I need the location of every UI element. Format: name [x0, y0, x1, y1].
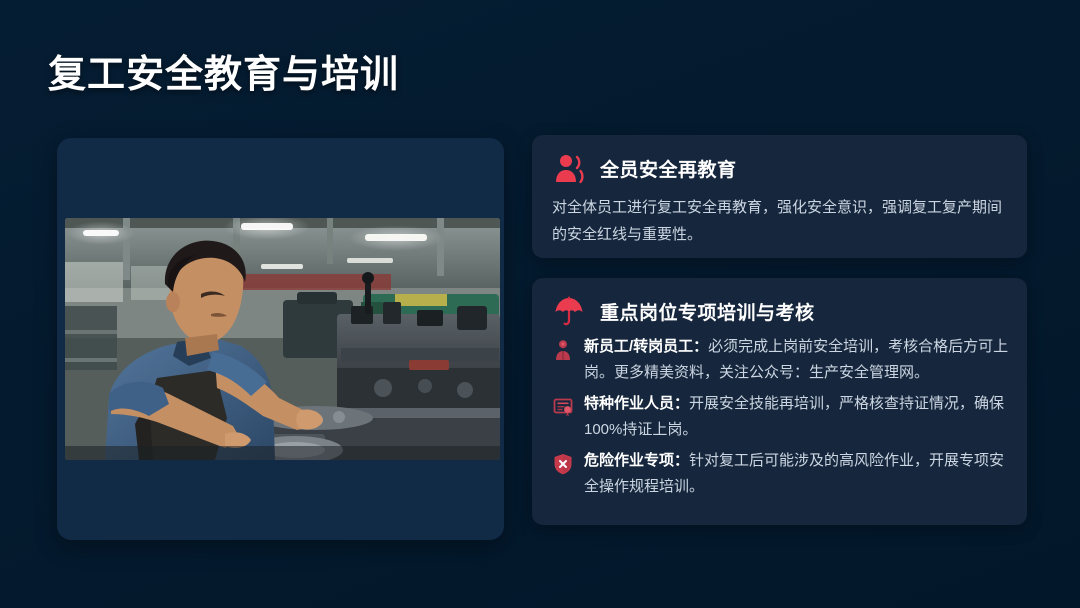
slide-root: 复工安全教育与培训: [0, 0, 1080, 608]
list-item-text: 特种作业人员：开展安全技能再培训，严格核查持证情况，确保100%持证上岗。: [584, 391, 1009, 443]
list-item-label: 危险作业专项：: [584, 452, 689, 469]
bullet-list: 新员工/转岗员工：必须完成上岗前安全培训，考核合格后方可上岗。更多精美资料，关注…: [532, 328, 1027, 500]
danger-shield-icon: [552, 451, 574, 477]
card-all-staff-education: 全员安全再教育 对全体员工进行复工安全再教育，强化安全意识，强调复工复产期间的安…: [532, 135, 1027, 258]
announce-person-icon: [552, 151, 586, 185]
card-title: 重点岗位专项培训与考核: [600, 298, 815, 325]
card-key-post-training: 重点岗位专项培训与考核 新员工/转岗员工：必须完成上岗前安全培训，考核合格后方可…: [532, 278, 1027, 525]
page-title: 复工安全教育与培训: [48, 43, 399, 98]
list-item: 危险作业专项：针对复工后可能涉及的高风险作业，开展专项安全操作规程培训。: [552, 448, 1009, 500]
factory-worker-photo: [65, 218, 500, 460]
card-title: 全员安全再教育: [600, 155, 737, 182]
certificate-icon: [552, 394, 574, 420]
list-item: 新员工/转岗员工：必须完成上岗前安全培训，考核合格后方可上岗。更多精美资料，关注…: [552, 334, 1009, 386]
list-item: 特种作业人员：开展安全技能再培训，严格核查持证情况，确保100%持证上岗。: [552, 391, 1009, 443]
umbrella-icon: [552, 294, 586, 328]
list-item-label: 特种作业人员：: [584, 395, 689, 412]
card-header: 重点岗位专项培训与考核: [532, 278, 1027, 328]
list-item-text: 新员工/转岗员工：必须完成上岗前安全培训，考核合格后方可上岗。更多精美资料，关注…: [584, 334, 1009, 386]
media-panel: [57, 138, 504, 540]
card-body-text: 对全体员工进行复工安全再教育，强化安全意识，强调复工复产期间的安全红线与重要性。: [532, 185, 1027, 248]
card-header: 全员安全再教育: [532, 135, 1027, 185]
list-item-label: 新员工/转岗员工：: [584, 338, 708, 355]
worker-person-icon: [552, 337, 574, 363]
list-item-text: 危险作业专项：针对复工后可能涉及的高风险作业，开展专项安全操作规程培训。: [584, 448, 1009, 500]
